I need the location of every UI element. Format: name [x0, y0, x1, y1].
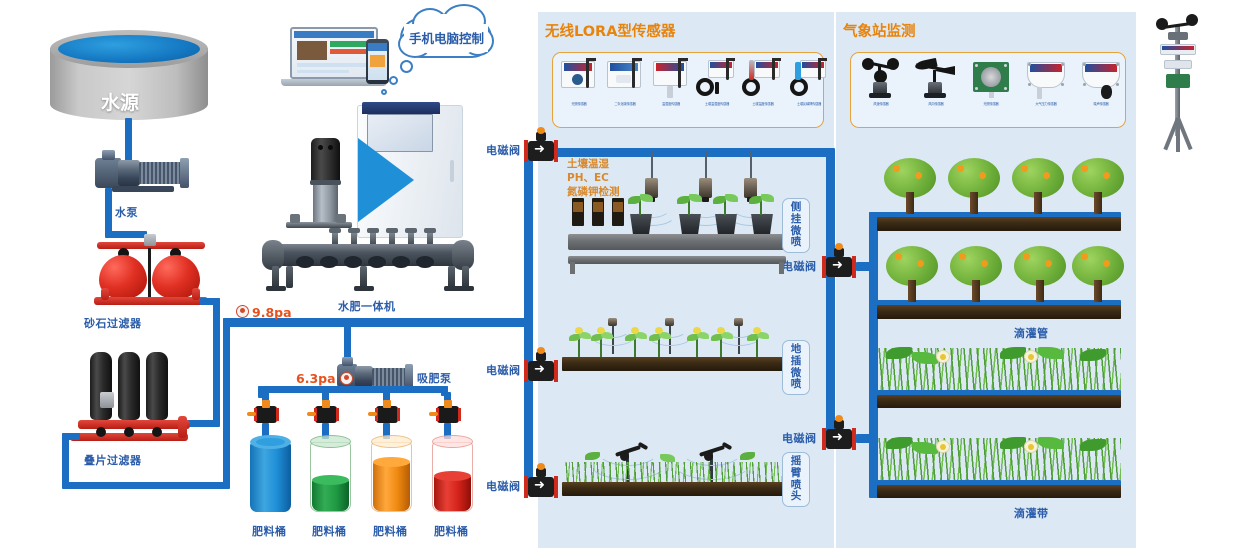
soil-detection-note: 土壤温湿 PH、EC 氮磷钾检测 — [567, 157, 620, 200]
water-source-label: 水源 — [101, 88, 139, 115]
fert-tank-label: 肥料桶 — [252, 523, 287, 539]
fert-tank-label: 肥料桶 — [434, 523, 469, 539]
lora-sensor-label: 二氧化碳传感器 — [603, 103, 647, 107]
pipe-up-to-main — [223, 318, 230, 488]
lora-sensor-label: 土壤温湿度传感器 — [695, 103, 739, 107]
weather-sensor-label: 风速传感器 — [859, 103, 903, 107]
weather-sensor-label: 风向传感器 — [914, 103, 958, 107]
field-label-drip-tape: 滴灌带 — [1014, 505, 1049, 521]
riser-to-sensor-zone — [524, 148, 533, 323]
irrigation-method-tag: 地插 微喷 — [782, 340, 810, 395]
solenoid-valve-label: 电磁阀 — [486, 362, 521, 378]
lora-sensor: 土壤温湿度传感器 — [694, 56, 740, 107]
lora-sensor-label: 光照传感器 — [557, 103, 601, 107]
field-label-drip-pipe: 滴灌管 — [1014, 325, 1049, 341]
lora-sensor: 二氧化碳传感器 — [602, 56, 648, 107]
fert-tank-label: 肥料桶 — [373, 523, 408, 539]
weather-sensor: 风向传感器 — [913, 56, 959, 107]
riser-right-zone — [826, 148, 835, 448]
weather-sensor: 大气压力传感器 — [1023, 56, 1069, 107]
weather-panel-title: 气象站监测 — [843, 20, 916, 41]
lora-sensor: 土壤氮磷钾传感器 — [786, 56, 832, 107]
lora-sensor: 土壤温度传感器 — [740, 56, 786, 107]
fert-tank-label: 肥料桶 — [312, 523, 347, 539]
solenoid-valve-label: 电磁阀 — [782, 430, 817, 446]
irrigation-method-tag: 摇臂 喷头 — [782, 452, 810, 507]
solenoid-valve-label: 电磁阀 — [486, 142, 521, 158]
pipe-bottom-run — [62, 482, 230, 489]
middle-distribution-line — [524, 318, 533, 488]
irrigation-system-diagram: 水源 水泵 砂石过滤器 — [0, 0, 1260, 560]
weather-sensor-label: 光照传感器 — [969, 103, 1013, 107]
machine-blue-accent — [358, 138, 414, 222]
fert-pump-label: 吸肥泵 — [417, 370, 452, 386]
weather-sensor-label: 大气压力传感器 — [1024, 103, 1068, 107]
lora-sensor: 光照传感器 — [556, 56, 602, 107]
weather-sensor-label: 噪声传感器 — [1079, 103, 1123, 107]
fert-manifold — [258, 386, 448, 393]
pipe-pump-down — [105, 188, 112, 236]
solenoid-valve-label: 电磁阀 — [782, 258, 817, 274]
cloud-control-label: 手机电脑控制 — [409, 28, 484, 47]
weather-sensor: 风速传感器 — [858, 56, 904, 107]
lora-sensor-label: 土壤温度传感器 — [741, 103, 785, 107]
fert-gauge-value: 6.3pa — [296, 371, 336, 386]
pipe-disc-down — [62, 433, 69, 488]
fert-manifold-right-drop — [441, 386, 448, 396]
pipe-tank-to-pump — [125, 118, 132, 166]
sand-filter-label: 砂石过滤器 — [84, 315, 142, 331]
weather-sensor: 噪声传感器 — [1078, 56, 1124, 107]
lora-sensor: 温湿度传感器 — [648, 56, 694, 107]
irrigation-method-tag: 侧挂 微喷 — [782, 198, 810, 253]
lora-sensor-label: 温湿度传感器 — [649, 103, 693, 107]
header-to-lora-zone — [524, 148, 834, 157]
pipe-sand-down — [213, 298, 220, 426]
lora-sensor-label: 土壤氮磷钾传感器 — [787, 103, 831, 107]
lora-panel-title: 无线LORA型传感器 — [545, 20, 675, 41]
machine-label: 水肥一体机 — [338, 298, 396, 314]
weather-sensor: 光照传感器 — [968, 56, 1014, 107]
disc-filter-label: 叠片过滤器 — [84, 452, 142, 468]
solenoid-valve-label: 电磁阀 — [486, 478, 521, 494]
pipe-pump-left — [105, 231, 147, 238]
water-pump-label: 水泵 — [115, 204, 138, 220]
main-gauge-value: 9.8pa — [252, 305, 292, 320]
